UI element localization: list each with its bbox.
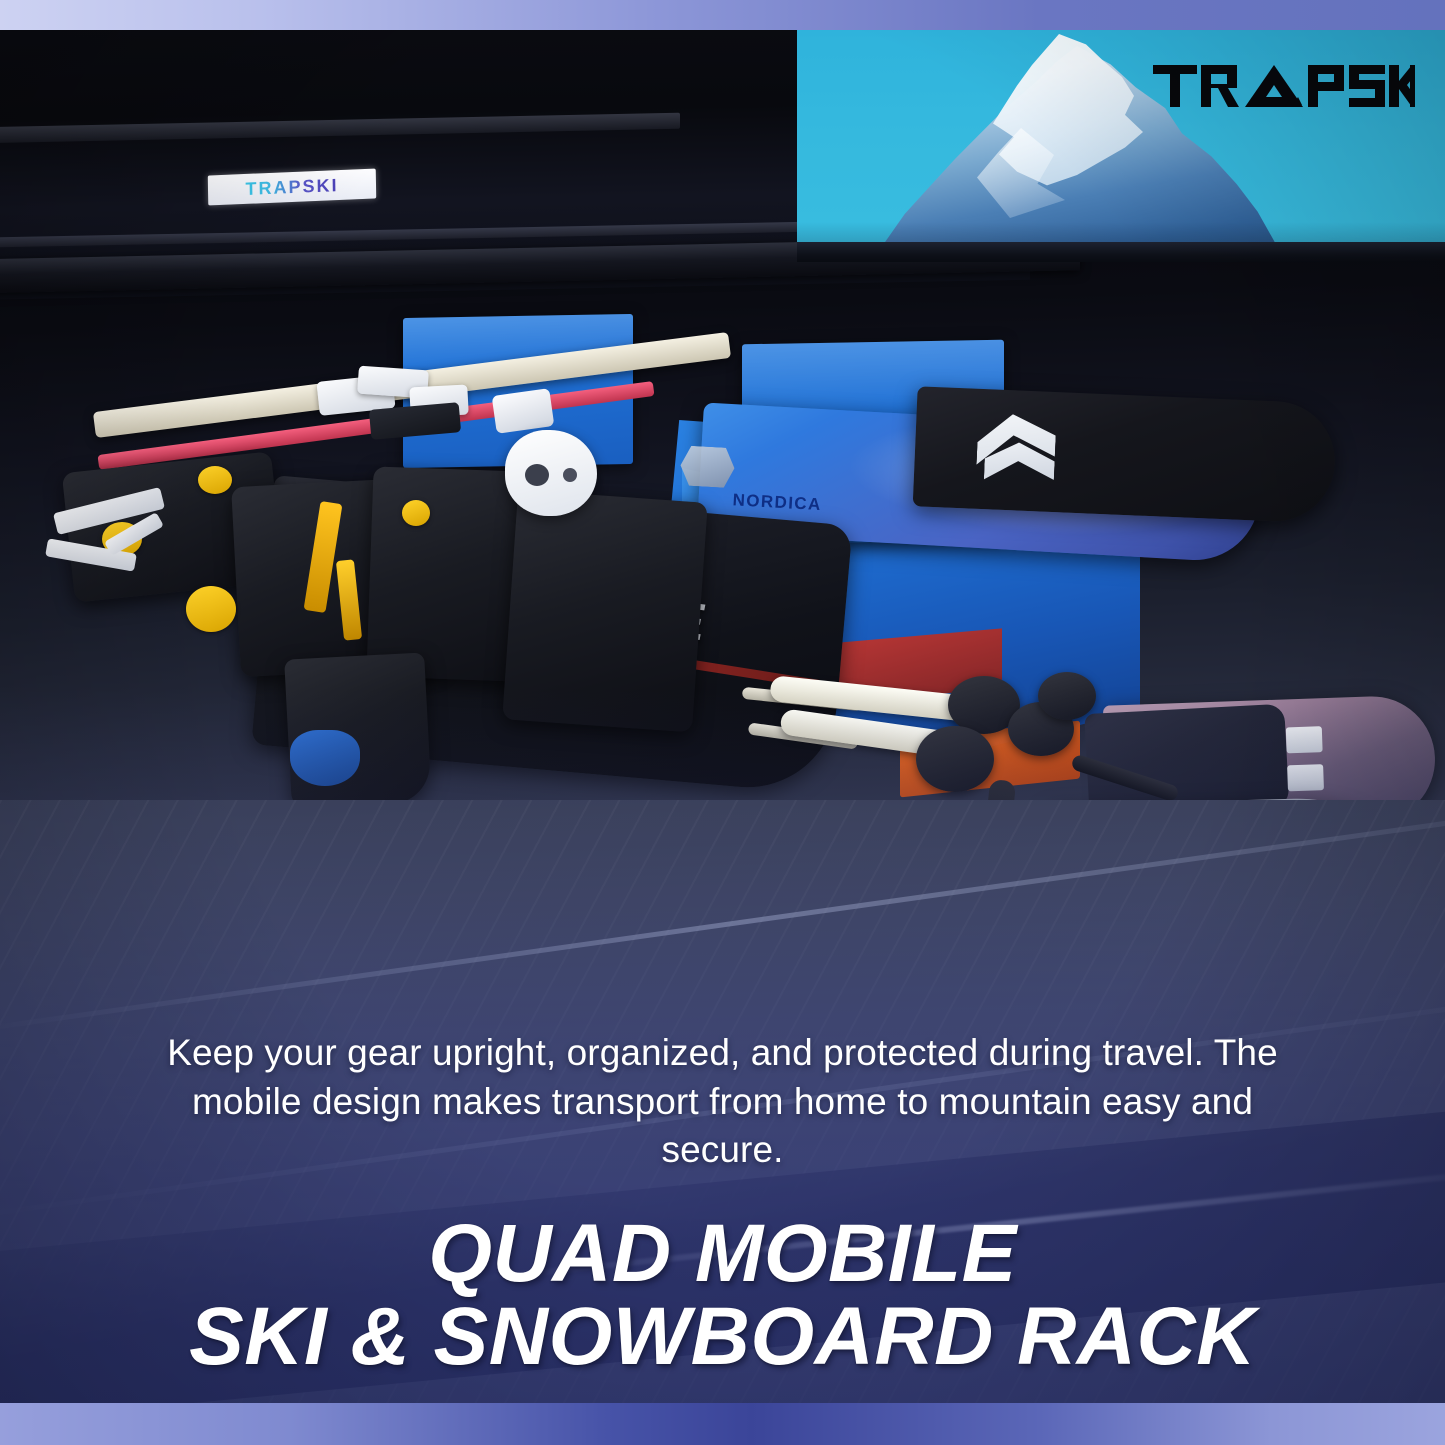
- binding-dial-3: [186, 586, 236, 632]
- tailgate-top-edge: [797, 242, 1445, 262]
- headline-line-1: QUAD MOBILE: [428, 1208, 1017, 1299]
- text-block: Keep your gear upright, organized, and p…: [0, 1029, 1445, 1401]
- page-title: QUAD MOBILE SKI & SNOWBOARD RACK: [96, 1212, 1349, 1379]
- bottom-border-band: [0, 1403, 1445, 1445]
- chevron-ski: [913, 386, 1338, 523]
- white-binding-cluster: [318, 368, 478, 458]
- headline-line-2: SKI & SNOWBOARD RACK: [96, 1295, 1349, 1379]
- top-border-band: [0, 0, 1445, 30]
- trapski-logo: [1153, 58, 1415, 114]
- boot-cuff-tab: [492, 388, 555, 434]
- trapski-wordmark-icon: [1153, 61, 1415, 111]
- promotional-poster: TRAPSKI NORDICA: [0, 0, 1445, 1445]
- nordica-brand-text: NORDICA: [732, 490, 822, 515]
- ski-boot-cuff: [505, 430, 597, 516]
- truck-decal-label: TRAPSKI: [245, 175, 338, 200]
- binding-dial-4: [402, 500, 430, 526]
- binding-dark-part: [369, 402, 461, 440]
- binding-dial-1: [198, 466, 232, 494]
- body-copy: Keep your gear upright, organized, and p…: [163, 1029, 1283, 1173]
